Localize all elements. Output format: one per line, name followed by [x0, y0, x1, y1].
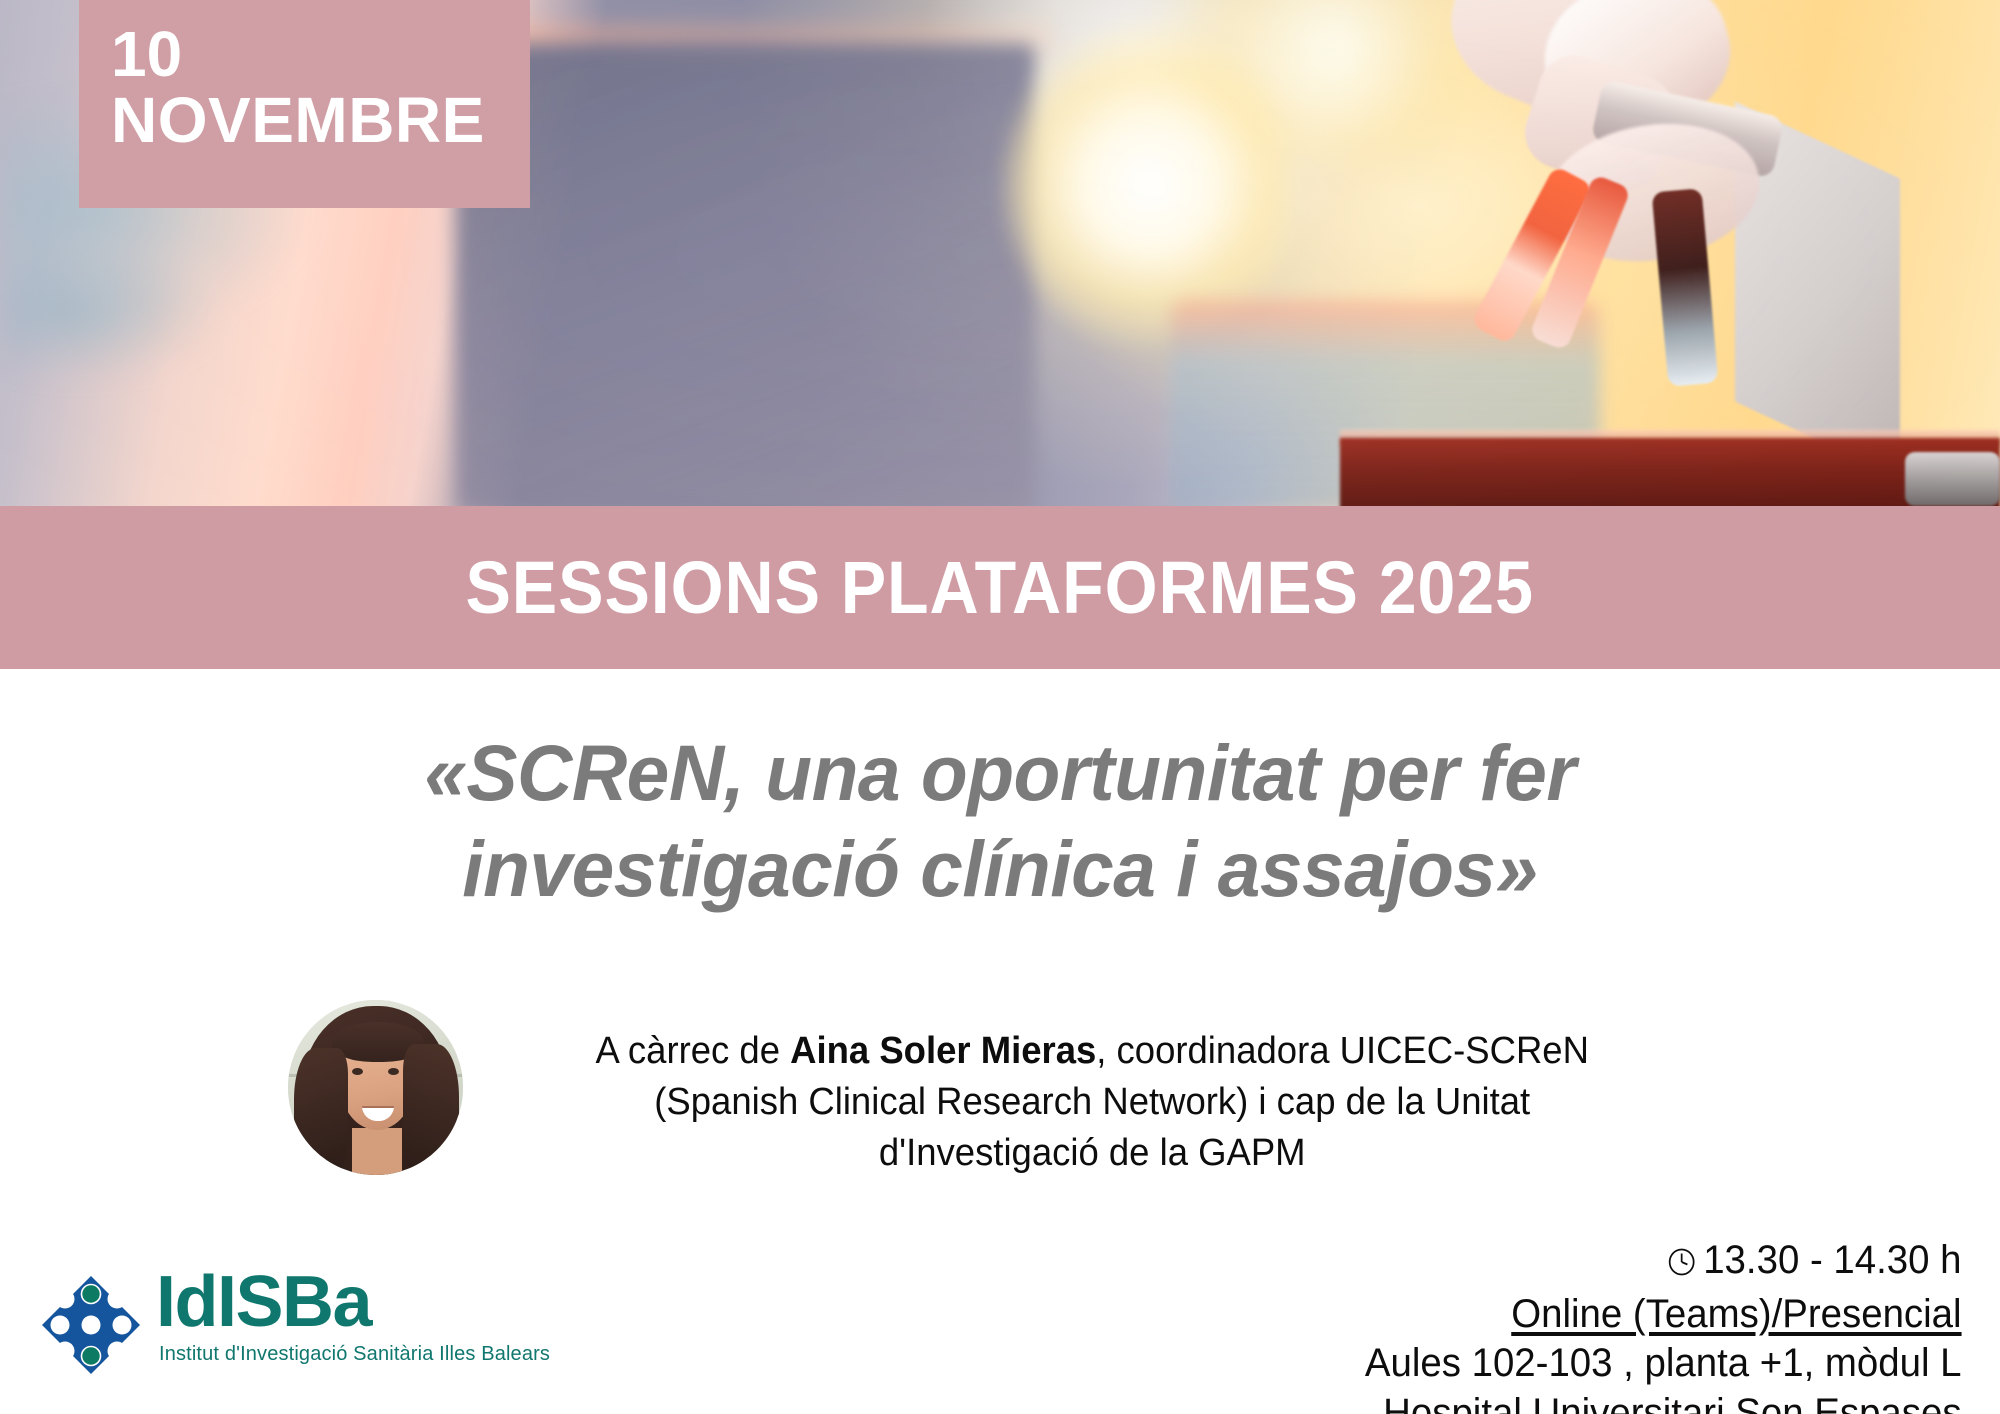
clock-icon [1668, 1240, 1697, 1290]
avatar-eye-right [388, 1068, 399, 1075]
date-badge: 10 NOVEMBRE [79, 0, 530, 208]
avatar-eye-left [352, 1068, 363, 1075]
logo-text: IdISBa Institut d'Investigació Sanitària… [142, 1268, 550, 1366]
avatar-hair-right-strand [403, 1044, 459, 1175]
idisba-logo: IdISBa Institut d'Investigació Sanitària… [40, 1268, 550, 1376]
speaker-line-2: (Spanish Clinical Research Network) i ca… [501, 1077, 1683, 1128]
avatar-neck [352, 1128, 402, 1175]
speaker-prefix: A càrrec de [595, 1030, 790, 1072]
speaker-line-1: A càrrec de Aina Soler Mieras, coordinad… [501, 1026, 1683, 1077]
event-room: Aules 102-103 , planta +1, mòdul L [1365, 1339, 1962, 1389]
event-time-row: 13.30 - 14.30 h [1365, 1236, 1962, 1290]
session-title: «SCReN, una oportunitat per fer investig… [30, 725, 1970, 918]
series-banner: SESSIONS PLATAFORMES 2025 [0, 506, 2000, 669]
session-title-line-2: investigació clínica i assajos» [30, 821, 1970, 917]
diamond-dots-icon [40, 1274, 142, 1376]
speaker-role: , coordinadora UICEC-SCReN [1096, 1030, 1589, 1072]
date-day: 10 [111, 22, 530, 87]
event-venue: Hospital Universitari Son Espases [1365, 1389, 1962, 1414]
event-mode[interactable]: Online (Teams)/Presencial [1365, 1290, 1962, 1340]
session-title-line-1: «SCReN, una oportunitat per fer [30, 725, 1970, 821]
speaker-description: A càrrec de Aina Soler Mieras, coordinad… [488, 1000, 1683, 1179]
speaker-line-3: d'Investigació de la GAPM [501, 1128, 1683, 1179]
event-poster: 10 NOVEMBRE SESSIONS PLATAFORMES 2025 «S… [0, 0, 2000, 1414]
avatar-hair-left-strand [294, 1048, 348, 1175]
speaker-avatar [288, 1000, 463, 1175]
event-time: 13.30 - 14.30 h [1704, 1238, 1962, 1282]
event-details: 13.30 - 14.30 h Online (Teams)/Presencia… [1365, 1236, 1962, 1414]
logo-wordmark: IdISBa [156, 1268, 550, 1337]
date-month: NOVEMBRE [111, 87, 530, 154]
series-title: SESSIONS PLATAFORMES 2025 [466, 545, 1534, 630]
speaker-block: A càrrec de Aina Soler Mieras, coordinad… [288, 1000, 1708, 1179]
speaker-name: Aina Soler Mieras [790, 1030, 1096, 1072]
